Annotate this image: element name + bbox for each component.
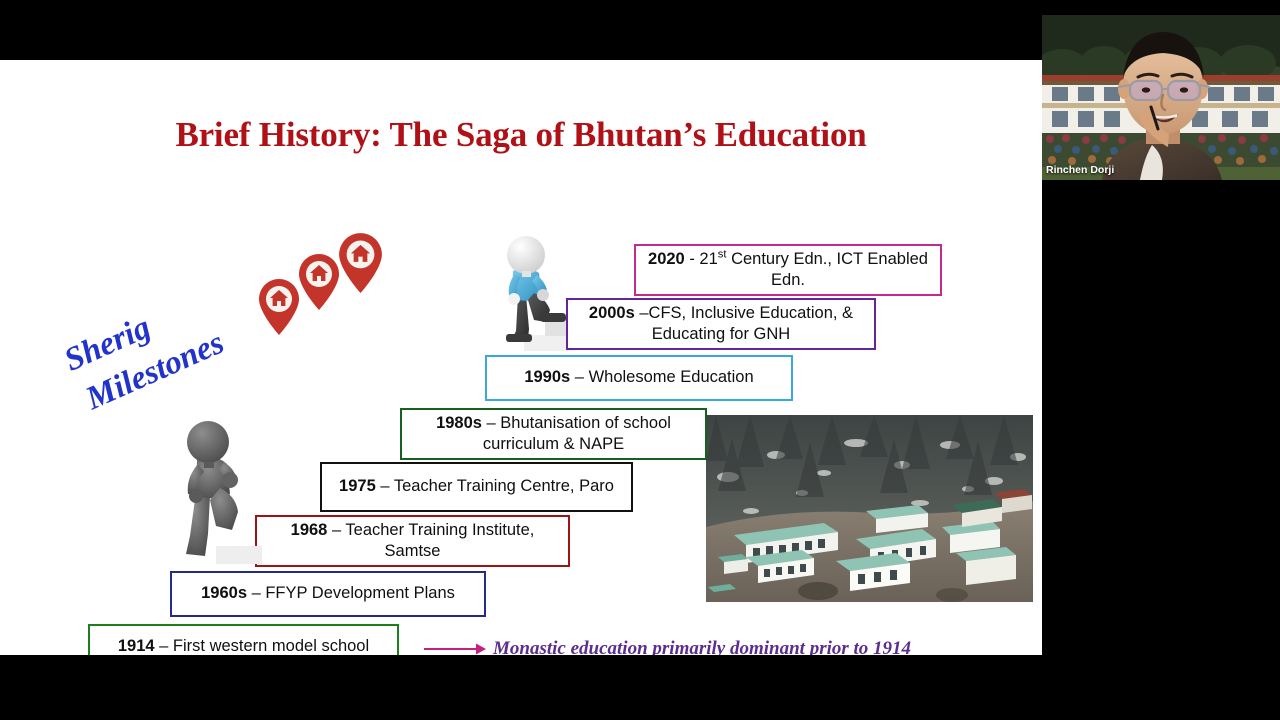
- sherig-milestones-label: Sherig Milestones: [58, 249, 304, 422]
- milestone-box-1968[interactable]: 1968 – Teacher Training Institute, Samts…: [255, 515, 570, 567]
- milestone-1990s-text: 1990s – Wholesome Education: [524, 367, 753, 388]
- milestone-1968-text: 1968 – Teacher Training Institute, Samts…: [267, 520, 558, 562]
- map-pin-house-3: [338, 232, 383, 294]
- milestone-2000s-text: 2000s –CFS, Inclusive Education, & Educa…: [578, 303, 864, 345]
- milestone-1914-text: 1914 – First western model school: [118, 636, 369, 655]
- milestone-2020-text: 2020 - 21st Century Edn., ICT Enabled Ed…: [646, 249, 930, 291]
- milestone-1975-text: 1975 – Teacher Training Centre, Paro: [339, 476, 614, 497]
- milestone-box-2020[interactable]: 2020 - 21st Century Edn., ICT Enabled Ed…: [634, 244, 942, 296]
- presentation-slide: Brief History: The Saga of Bhutan’s Educ…: [0, 60, 1042, 655]
- milestone-box-2000s[interactable]: 2000s –CFS, Inclusive Education, & Educa…: [566, 298, 876, 350]
- monastic-education-note: Monastic education primarily dominant pr…: [493, 638, 911, 655]
- milestone-1980s-text: 1980s – Bhutanisation of school curricul…: [412, 413, 695, 455]
- screen: Brief History: The Saga of Bhutan’s Educ…: [0, 0, 1280, 720]
- map-pin-house-1: [258, 278, 300, 336]
- webcam-video-tile[interactable]: Rinchen Dorji: [1042, 15, 1280, 180]
- slide-title: Brief History: The Saga of Bhutan’s Educ…: [0, 115, 1042, 155]
- school-campus-photo: [706, 415, 1033, 602]
- figure-climbing-blue-icon: [490, 235, 575, 358]
- milestone-box-1990s[interactable]: 1990s – Wholesome Education: [485, 355, 793, 401]
- arrow-right-icon: [424, 641, 486, 655]
- milestone-box-1980s[interactable]: 1980s – Bhutanisation of school curricul…: [400, 408, 707, 460]
- milestone-1960s-text: 1960s – FFYP Development Plans: [201, 583, 455, 604]
- milestone-box-1960s[interactable]: 1960s – FFYP Development Plans: [170, 571, 486, 617]
- map-pin-house-2: [298, 253, 340, 311]
- participant-name-label: Rinchen Dorji: [1046, 164, 1114, 176]
- milestone-box-1914[interactable]: 1914 – First western model school: [88, 624, 399, 655]
- figure-climbing-grey-icon: [172, 418, 264, 575]
- milestone-box-1975[interactable]: 1975 – Teacher Training Centre, Paro: [320, 462, 633, 512]
